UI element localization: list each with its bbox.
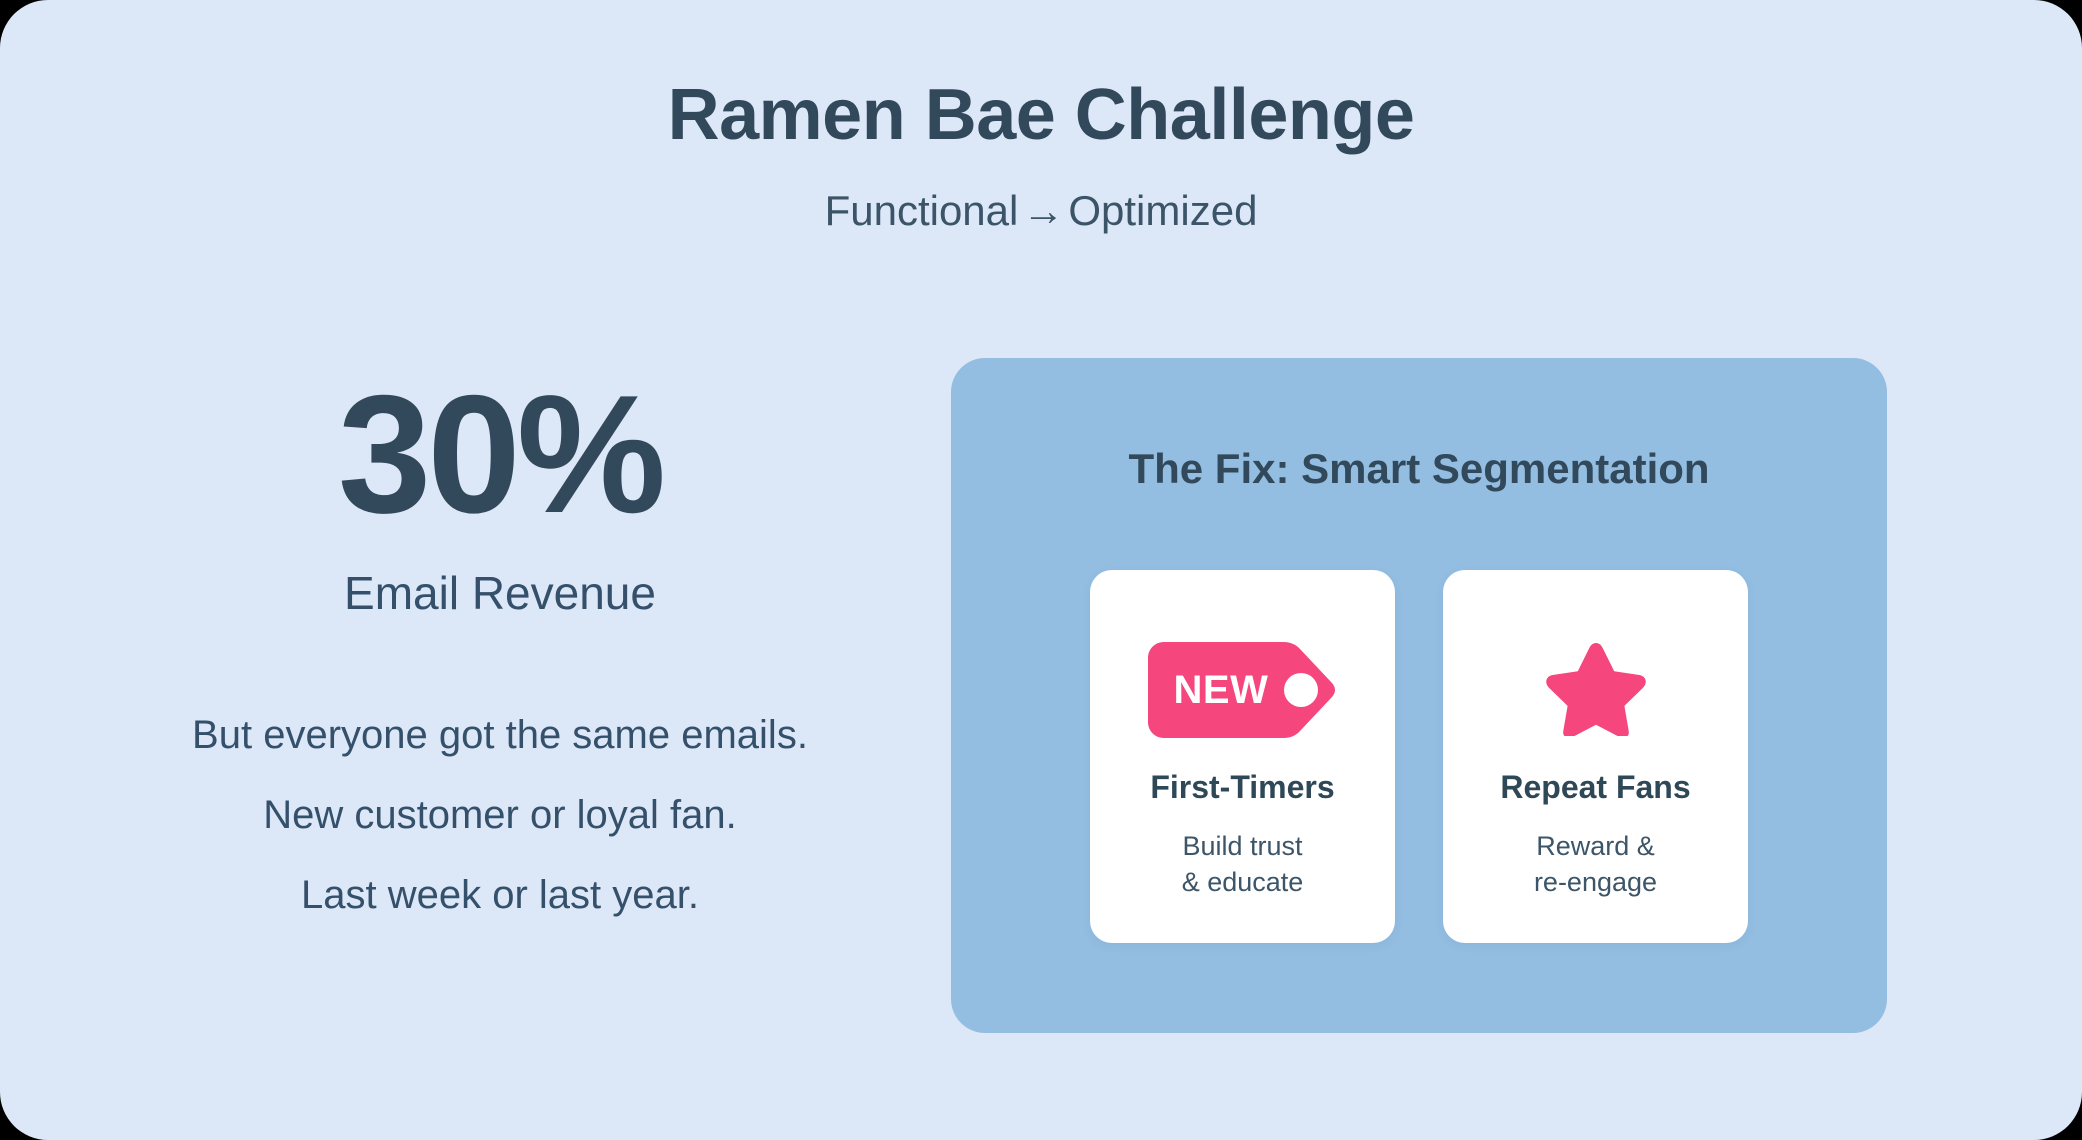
subtitle-after-text: Optimized (1068, 187, 1257, 234)
stat-value: 30% (60, 370, 940, 538)
slide-canvas: Ramen Bae Challenge Functional→Optimized… (0, 0, 2082, 1140)
card-icon-slot (1546, 610, 1646, 770)
new-tag-label: NEW (1174, 670, 1269, 710)
stat-column: 30% Email Revenue But everyone got the s… (60, 370, 940, 915)
card-title: First-Timers (1150, 770, 1334, 805)
segment-card-repeat-fans[interactable]: Repeat Fans Reward & re-engage (1443, 570, 1748, 943)
card-description: Build trust & educate (1182, 829, 1304, 900)
stat-label: Email Revenue (60, 568, 940, 619)
solution-panel: The Fix: Smart Segmentation NEW First-Ti… (951, 358, 1887, 1033)
right-arrow-icon: → (1018, 187, 1068, 234)
card-icon-slot: NEW (1148, 610, 1338, 770)
star-icon (1546, 640, 1646, 741)
segment-card-first-timers[interactable]: NEW First-Timers Build trust & educate (1090, 570, 1395, 943)
problem-statement-list: But everyone got the same emails. New cu… (60, 715, 940, 915)
panel-title: The Fix: Smart Segmentation (951, 446, 1887, 492)
page-subtitle: Functional→Optimized (0, 188, 2082, 234)
segment-card-group: NEW First-Timers Build trust & educate R… (1090, 570, 1748, 943)
card-description: Reward & re-engage (1534, 829, 1657, 900)
slide-header: Ramen Bae Challenge Functional→Optimized (0, 78, 2082, 234)
new-tag-icon: NEW (1148, 642, 1338, 738)
list-item: But everyone got the same emails. (60, 715, 940, 755)
subtitle-before-text: Functional (825, 187, 1019, 234)
list-item: New customer or loyal fan. (60, 795, 940, 835)
list-item: Last week or last year. (60, 875, 940, 915)
card-title: Repeat Fans (1500, 770, 1690, 805)
page-title: Ramen Bae Challenge (0, 78, 2082, 154)
